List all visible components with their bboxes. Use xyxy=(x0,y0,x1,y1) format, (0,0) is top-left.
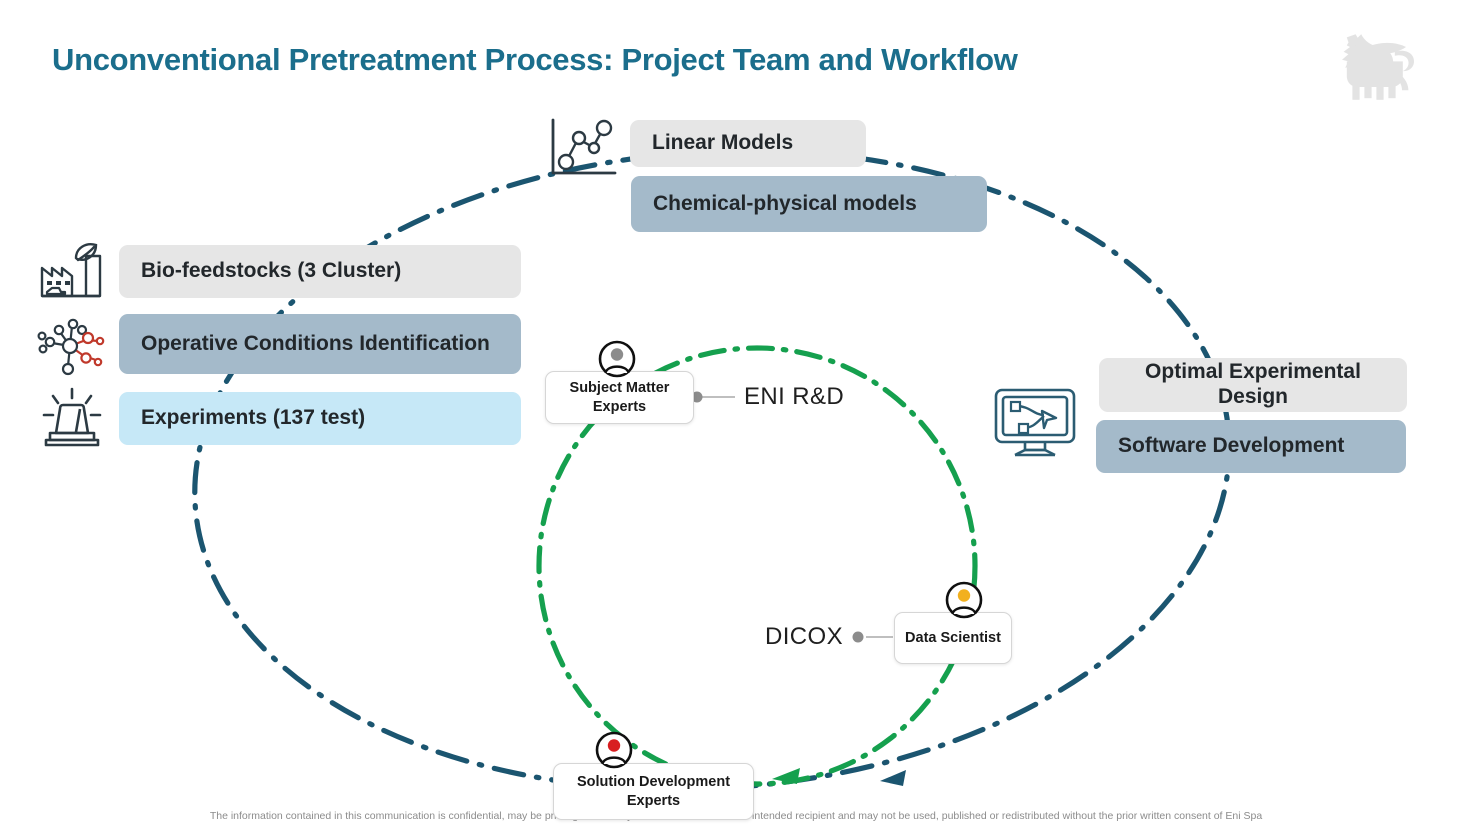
step-label-software-development[interactable]: Software Development xyxy=(1096,420,1406,473)
monitor-design-icon xyxy=(992,385,1078,461)
team-node-subject-matter-experts[interactable]: Subject Matter Experts xyxy=(545,371,694,424)
step-label-chemical-physical-models[interactable]: Chemical-physical models xyxy=(631,176,987,232)
org-label-dicox: DICOX xyxy=(765,623,843,651)
step-label-bio-feedstocks[interactable]: Bio-feedstocks (3 Cluster) xyxy=(119,245,521,298)
avatar-data-scientist xyxy=(945,581,983,619)
molecule-icon xyxy=(34,310,110,382)
factory-leaf-icon xyxy=(36,240,108,302)
avatar-solution-development-experts xyxy=(595,731,633,769)
step-label-experiments[interactable]: Experiments (137 test) xyxy=(119,392,521,445)
inner-cycle-arrowhead xyxy=(772,768,800,784)
beacon-icon xyxy=(36,385,108,449)
team-node-solution-development-experts[interactable]: Solution Development Experts xyxy=(553,763,754,820)
step-label-optimal-experimental-design[interactable]: Optimal Experimental Design xyxy=(1099,358,1407,412)
slide-canvas: Unconventional Pretreatment Process: Pro… xyxy=(0,0,1472,828)
line-chart-icon xyxy=(545,115,619,181)
org-label-eni-rd: ENI R&D xyxy=(744,383,844,411)
outer-cycle-arrowhead xyxy=(880,770,906,786)
step-label-linear-models[interactable]: Linear Models xyxy=(630,120,866,167)
step-label-operative-conditions[interactable]: Operative Conditions Identification xyxy=(119,314,521,374)
team-node-data-scientist[interactable]: Data Scientist xyxy=(894,612,1012,664)
avatar-subject-matter-experts xyxy=(598,340,636,378)
connector-dot-dicox xyxy=(853,632,864,643)
